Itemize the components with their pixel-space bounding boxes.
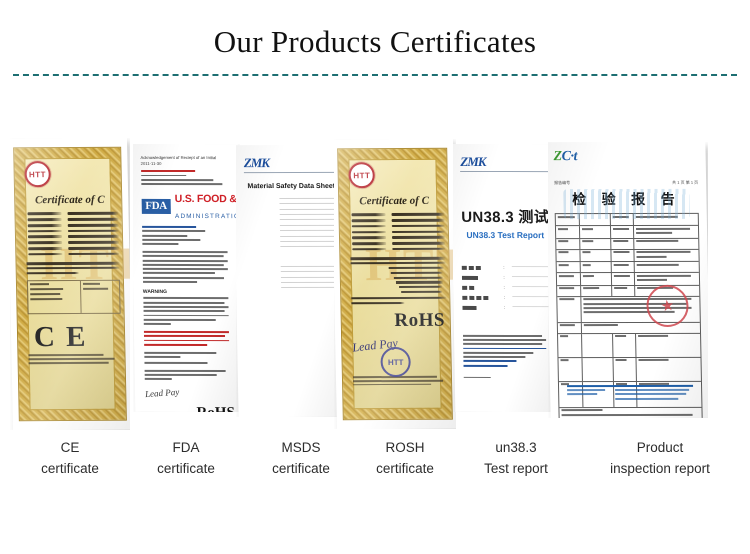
table-row <box>559 408 701 418</box>
certificate-image-ce[interactable]: HTT HTT Certificate of C <box>10 138 130 430</box>
footer-lines <box>28 354 122 364</box>
certificate-captions: CE certificate FDA certificate MSDS cert… <box>0 438 750 498</box>
fda-red-block <box>144 331 234 346</box>
field-row <box>352 219 445 222</box>
table-row <box>556 239 698 250</box>
un383-document: ZMK UN38.3 测试报告 UN38.3 Test Report : : : <box>453 144 557 412</box>
msds-field-row <box>245 245 339 247</box>
ce-content: HTT Certificate of C <box>24 161 123 413</box>
logo-rule <box>460 171 547 172</box>
un383-field-row: : <box>462 286 549 291</box>
fda-closing-block <box>144 352 234 364</box>
field-row <box>352 242 445 245</box>
caption-un383: un38.3 Test report <box>458 438 574 480</box>
msds-field-row <box>246 281 340 283</box>
caption-line2: Test report <box>458 459 574 480</box>
certificate-heading: Certificate of C <box>35 194 119 206</box>
page-title: Our Products Certificates <box>0 0 750 57</box>
un383-title: UN38.3 测试报告 <box>461 206 549 227</box>
caption-line1: MSDS <box>243 438 359 459</box>
certificate-image-un383[interactable]: ZMK UN38.3 测试报告 UN38.3 Test Report : : : <box>453 144 557 412</box>
certificate-image-fda[interactable]: Acknowledgement of Reciept of an Initial… <box>133 144 240 412</box>
fda-content: Acknowledgement of Reciept of an Initial… <box>140 155 234 402</box>
inspection-title: 检 验 报 告 <box>554 189 698 209</box>
table-row <box>558 323 700 334</box>
field-row <box>352 213 445 216</box>
table-row <box>556 226 698 239</box>
msds-field-row <box>245 229 339 231</box>
field-rows <box>27 212 120 256</box>
un383-field-row: : <box>463 306 550 311</box>
msds-field-row <box>245 208 339 210</box>
caption-line2: certificate <box>352 459 458 480</box>
inspection-document: ZC·t 报告编号 共 1 页 第 1 页 检 验 报 告 <box>548 142 708 418</box>
fda-warning-block: WARNING <box>143 289 234 325</box>
report-number-label: 报告编号 <box>554 180 570 186</box>
htt-stamp-icon: HTT <box>380 347 411 377</box>
field-row <box>28 235 120 238</box>
body-paragraph <box>26 262 120 274</box>
caption-fda: FDA certificate <box>128 438 244 480</box>
un383-footer-block <box>463 335 551 379</box>
un383-field-row: : <box>462 266 549 271</box>
table-row <box>557 262 699 273</box>
fda-title-line1: U.S. FOOD & DRUG <box>175 193 240 205</box>
table-row <box>556 214 698 226</box>
section-divider <box>13 74 737 76</box>
fda-sign-block <box>144 370 234 381</box>
caption-rosh: ROSH certificate <box>352 438 458 480</box>
msds-field-row <box>245 235 339 237</box>
htt-logo-icon: HTT <box>24 161 51 187</box>
standards-paragraph <box>351 257 447 304</box>
zct-logo-icon: ZC·t <box>553 150 697 164</box>
field-row <box>28 247 120 250</box>
fda-note-line2: 2011-11-30 <box>141 161 231 167</box>
fda-address-block <box>142 226 232 245</box>
signature-area: Lead Pay HTT <box>352 336 448 374</box>
msds-field-row <box>245 224 339 226</box>
certificate-image-inspection[interactable]: ZC·t 报告编号 共 1 页 第 1 页 检 验 报 告 <box>548 142 708 418</box>
field-row <box>27 218 119 221</box>
caption-line2: certificate <box>128 459 244 480</box>
table-row <box>558 334 700 358</box>
field-row <box>27 212 119 215</box>
fda-logo-bar: FDA U.S. FOOD & DRUG ADMINISTRATION <box>141 190 231 222</box>
certificate-image-msds[interactable]: ZMK Material Safety Data Sheet <box>236 145 348 417</box>
footer-lines <box>353 376 448 386</box>
msds-field-row <box>245 202 339 204</box>
msds-field-row <box>246 265 340 267</box>
msds-field-row <box>246 286 340 288</box>
msds-field-row <box>245 213 339 215</box>
standards-table <box>27 280 121 314</box>
fda-logo-icon: FDA <box>141 198 171 213</box>
un383-field-row: : <box>463 296 550 301</box>
field-rows <box>352 213 446 251</box>
field-row <box>28 224 120 227</box>
table-row <box>556 250 698 263</box>
caption-line2: certificate <box>243 459 359 480</box>
caption-line1: CE <box>10 438 130 459</box>
un383-subtitle: UN38.3 Test Report <box>462 230 550 240</box>
msds-field-row <box>246 270 340 272</box>
caption-line1: un38.3 <box>458 438 574 459</box>
caption-ce: CE certificate <box>10 438 130 480</box>
rohs-mark: RoHS <box>145 405 235 412</box>
caption-line2: certificate <box>10 459 130 480</box>
rohs-mark: RoHS <box>352 310 448 332</box>
caption-line1: FDA <box>128 438 244 459</box>
un383-content: ZMK UN38.3 测试报告 UN38.3 Test Report : : : <box>460 155 552 402</box>
caption-line2: inspection report <box>578 459 742 480</box>
rosh-content: HTT Certificate of C <box>349 162 449 412</box>
msds-field-row <box>245 218 339 220</box>
inspection-content: ZC·t 报告编号 共 1 页 第 1 页 检 验 报 告 <box>553 150 702 410</box>
msds-content: ZMK Material Safety Data Sheet <box>244 156 343 406</box>
fda-signature: Lead Pay <box>144 386 179 398</box>
field-row <box>352 230 445 233</box>
certificates-gallery: HTT HTT Certificate of C <box>0 138 750 438</box>
field-row <box>352 248 445 251</box>
inspection-footer <box>567 385 694 402</box>
msds-document: ZMK Material Safety Data Sheet <box>236 145 348 417</box>
field-row <box>352 236 445 239</box>
page-indicator: 共 1 页 第 1 页 <box>672 180 698 186</box>
fda-message-block <box>142 251 232 283</box>
caption-line1: Product <box>578 438 742 459</box>
field-row <box>28 229 120 232</box>
table-row <box>557 273 699 286</box>
caption-line1: ROSH <box>352 438 458 459</box>
msds-field-row <box>244 197 338 199</box>
fda-top-note: Acknowledgement of Reciept of an Initial… <box>140 155 230 185</box>
msds-field-row <box>246 275 340 277</box>
fda-title-line2: ADMINISTRATION <box>175 213 240 220</box>
ce-mark: C E <box>34 323 122 352</box>
inspection-topline: 报告编号 共 1 页 第 1 页 <box>554 180 698 186</box>
field-row <box>352 224 445 227</box>
fda-warning-title: WARNING <box>143 289 233 295</box>
caption-msds: MSDS certificate <box>243 438 359 480</box>
un383-field-row: : <box>462 276 549 281</box>
certificate-image-rosh[interactable]: HTT HTT Certificate of C <box>334 139 456 429</box>
caption-inspection: Product inspection report <box>578 438 742 480</box>
un383-field-rows: : : : : : <box>462 266 550 311</box>
field-row <box>28 241 120 244</box>
fda-document: Acknowledgement of Reciept of an Initial… <box>133 144 240 412</box>
field-row <box>28 253 120 256</box>
rosh-document: HTT HTT Certificate of C <box>334 139 456 429</box>
zmk-logo-icon: ZMK <box>244 156 338 169</box>
zmk-logo-icon: ZMK <box>460 155 548 168</box>
table-row <box>558 358 700 382</box>
msds-field-row <box>245 240 339 242</box>
logo-rule <box>244 172 338 173</box>
msds-title: Material Safety Data Sheet <box>244 183 338 190</box>
certificate-heading: Certificate of C <box>359 195 444 207</box>
htt-logo-icon: HTT <box>349 162 376 188</box>
ce-document: HTT HTT Certificate of C <box>10 138 130 430</box>
